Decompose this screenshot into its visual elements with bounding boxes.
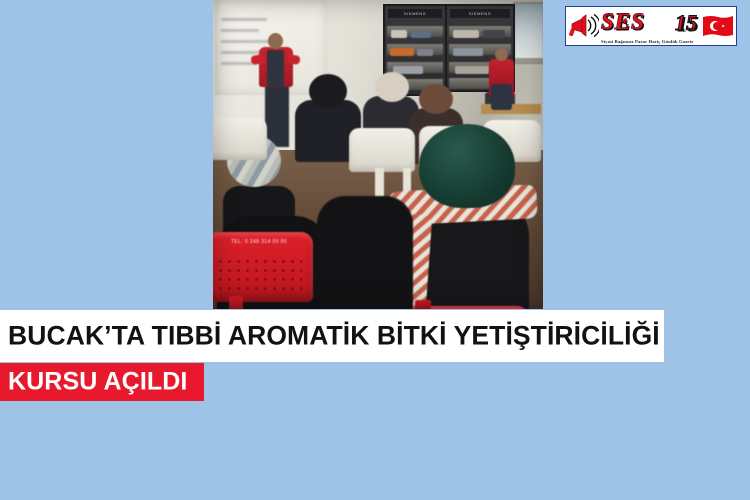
- logo-name: SES: [601, 9, 645, 35]
- headline-line-2-band: KURSU AÇILDI: [0, 363, 204, 401]
- headline-line-1: BUCAK’TA TIBBİ AROMATİK BİTKİ YETİŞTİRİC…: [8, 321, 660, 352]
- logo-number: 15: [675, 10, 697, 36]
- logo-text-group: SES 15 Siyasi Bağımsız Pazar Hariç Günlü…: [599, 8, 701, 44]
- headline-line-1-band: BUCAK’TA TIBBİ AROMATİK BİTKİ YETİŞTİRİC…: [0, 310, 664, 362]
- turkish-flag-icon: [703, 15, 733, 37]
- news-photo: SIEMENS SIEMENS: [213, 0, 543, 309]
- photo-vignette: [213, 0, 543, 309]
- page-root: SIEMENS SIEMENS: [0, 0, 750, 500]
- megaphone-icon: [569, 13, 599, 39]
- newspaper-logo[interactable]: SES 15 Siyasi Bağımsız Pazar Hariç Günlü…: [565, 6, 737, 46]
- headline-line-2: KURSU AÇILDI: [8, 368, 187, 397]
- logo-tagline: Siyasi Bağımsız Pazar Hariç Günlük Gazet…: [601, 39, 729, 44]
